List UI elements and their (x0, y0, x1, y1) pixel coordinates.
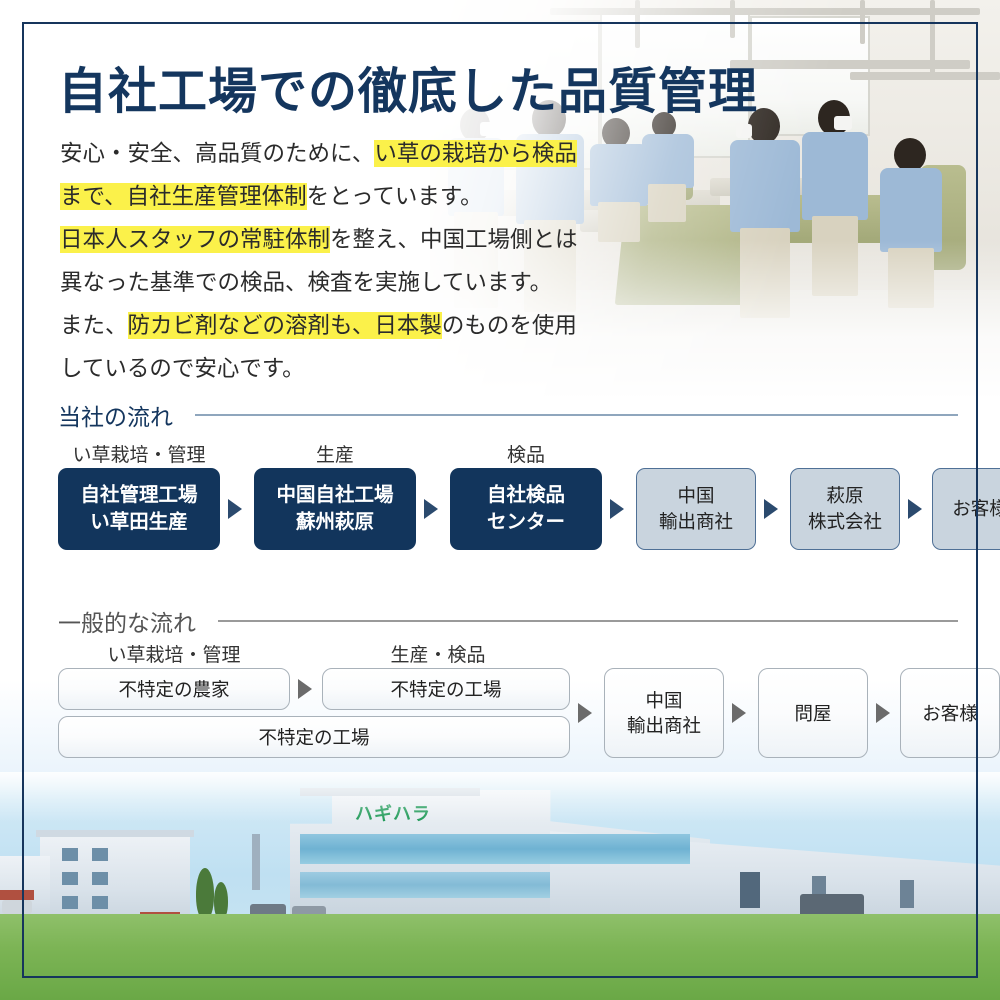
flow-step-own-4-line1: 中国 (677, 483, 714, 509)
paragraph-highlight-5: 日本製 (374, 312, 442, 339)
section-rule-own-flow (195, 414, 958, 416)
general-flow-diagram: い草栽培・管理 生産・検品 不特定の農家 不特定の工場 不特定の工場 中国 輸出… (58, 640, 958, 760)
flow-step-own-3-line2: センター (487, 509, 565, 536)
flow-step-own-2-label: 生産 (254, 440, 416, 467)
section-rule-general-flow (218, 620, 958, 622)
flow-arrow-own-5 (908, 499, 922, 519)
general-flow-box-3-label: 不特定の工場 (258, 725, 369, 750)
general-flow-box-5[interactable]: 問屋 (758, 668, 868, 758)
flow-step-own-4-box[interactable]: 中国 輸出商社 (636, 468, 756, 550)
flow-step-own-5-box[interactable]: 萩原 株式会社 (790, 468, 900, 550)
flow-step-own-2-line1: 中国自社工場 (276, 482, 393, 509)
flow-step-own-6-line1: お客様 (952, 496, 1000, 522)
flow-step-own-1-label: い草栽培・管理 (58, 440, 220, 467)
infographic-page: ハギハラ 自社工場での徹底した品質管理 安心・安全、高品質のために、い草の栽培か… (0, 0, 1000, 1000)
flow-step-own-3-line1: 自社検品 (487, 482, 565, 509)
paragraph-line6: しているので安心です。 (60, 356, 305, 381)
paragraph-highlight-1: い草の栽培から検品 (374, 140, 577, 167)
paragraph-highlight-3: 日本人スタッフの常駐体制 (60, 226, 330, 253)
body-paragraph: 安心・安全、高品質のために、い草の栽培から検品 まで、自社生産管理体制をとってい… (60, 132, 680, 390)
paragraph-line4: 異なった基準での検品、検査を実施しています。 (60, 270, 552, 295)
own-flow-diagram: い草栽培・管理 自社管理工場 い草田生産 生産 中国自社工場 蘇州萩原 検品 (58, 440, 958, 570)
paragraph-line5-plain: また、 (60, 313, 128, 338)
flow-arrow-own-1 (228, 499, 242, 519)
flow-arrow-own-4 (764, 499, 778, 519)
flow-arrow-own-2 (424, 499, 438, 519)
section-header-own-flow: 当社の流れ (58, 398, 958, 432)
general-flow-arrow-3 (732, 703, 746, 723)
section-title-general-flow: 一般的な流れ (58, 604, 196, 638)
flow-step-own-1-line1: 自社管理工場 (80, 482, 197, 509)
paragraph-line1-plain: 安心・安全、高品質のために、 (60, 141, 374, 166)
paragraph-highlight-4: 防カビ剤などの溶剤も、 (128, 312, 375, 339)
flow-step-own-5-line1: 萩原 (826, 483, 863, 509)
general-flow-box-2[interactable]: 不特定の工場 (322, 668, 570, 710)
flow-step-own-1-box[interactable]: 自社管理工場 い草田生産 (58, 468, 220, 550)
paragraph-line5-tail: のものを使用 (442, 313, 577, 338)
general-flow-box-3[interactable]: 不特定の工場 (58, 716, 570, 758)
general-flow-label-1: い草栽培・管理 (58, 640, 290, 667)
general-flow-box-1[interactable]: 不特定の農家 (58, 668, 290, 710)
general-flow-box-5-label: 問屋 (794, 701, 831, 726)
general-flow-box-1-label: 不特定の農家 (118, 677, 229, 702)
flow-step-own-2-box[interactable]: 中国自社工場 蘇州萩原 (254, 468, 416, 550)
general-flow-box-4-line2: 輸出商社 (627, 713, 701, 738)
flow-step-own-6-box[interactable]: お客様 (932, 468, 1000, 550)
general-flow-box-4[interactable]: 中国 輸出商社 (604, 668, 724, 758)
flow-step-own-3-box[interactable]: 自社検品 センター (450, 468, 602, 550)
flow-step-own-3-label: 検品 (450, 440, 602, 467)
flow-step-own-2-line2: 蘇州萩原 (296, 509, 374, 536)
general-flow-box-6-label: お客様 (922, 701, 978, 726)
paragraph-line3-tail: を整え、中国工場側とは (330, 227, 578, 252)
flow-arrow-own-3 (610, 499, 624, 519)
general-flow-label-2: 生産・検品 (314, 640, 562, 667)
paragraph-highlight-2a: まで、 (60, 183, 127, 210)
section-title-own-flow: 当社の流れ (58, 398, 173, 432)
flow-step-own-5-line2: 株式会社 (808, 509, 882, 535)
general-flow-box-6[interactable]: お客様 (900, 668, 1000, 758)
flow-step-own-1-line2: い草田生産 (90, 509, 188, 536)
paragraph-highlight-2b: 自社生産管理体制 (127, 183, 307, 210)
flow-step-own-4-line2: 輸出商社 (659, 509, 733, 535)
general-flow-box-4-line1: 中国 (645, 688, 682, 713)
general-flow-arrow-4 (876, 703, 890, 723)
paragraph-line2-tail: をとっています。 (307, 184, 483, 209)
general-flow-arrow-2 (578, 703, 592, 723)
page-title: 自社工場での徹底した品質管理 (58, 52, 758, 123)
general-flow-box-2-label: 不特定の工場 (390, 677, 501, 702)
section-header-general-flow: 一般的な流れ (58, 604, 958, 638)
general-flow-arrow-1 (298, 679, 312, 699)
